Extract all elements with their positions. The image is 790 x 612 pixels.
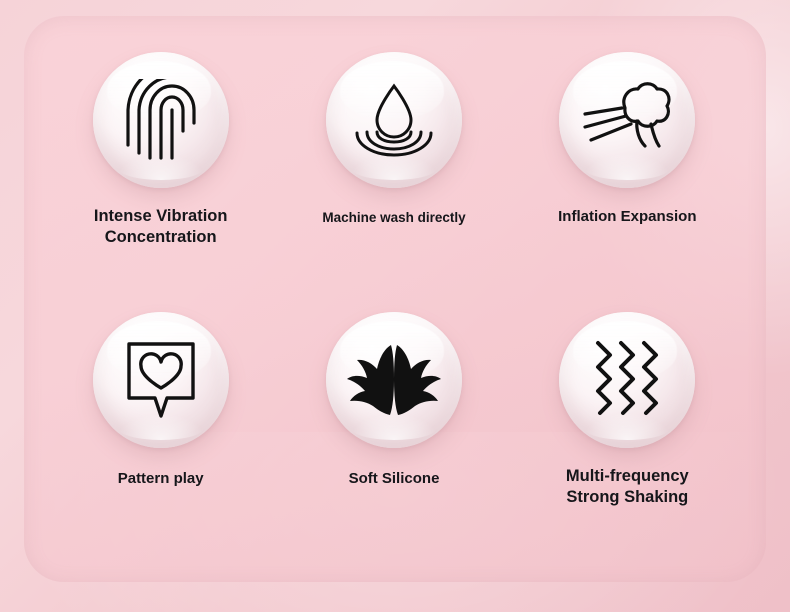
feature-label: Pattern play bbox=[118, 470, 204, 489]
feature-badge bbox=[326, 312, 462, 448]
feature-grid-page: Intense Vibration Concentration Machine … bbox=[0, 0, 790, 612]
heart-speech-bubble-icon bbox=[123, 338, 199, 422]
feature-label: Inflation Expansion bbox=[558, 208, 696, 227]
feature-item-intense-vibration: Intense Vibration Concentration bbox=[44, 52, 277, 312]
feature-item-machine-wash: Machine wash directly bbox=[277, 52, 510, 312]
soft-silicone-hands-icon bbox=[346, 341, 442, 419]
feature-item-multi-frequency: Multi-frequency Strong Shaking bbox=[511, 312, 744, 572]
air-blow-cloud-icon bbox=[581, 80, 673, 160]
feature-grid: Intense Vibration Concentration Machine … bbox=[44, 52, 744, 572]
feature-badge bbox=[93, 312, 229, 448]
wave-lines-icon bbox=[590, 339, 664, 421]
feature-label: Intense Vibration Concentration bbox=[94, 206, 228, 247]
feature-badge bbox=[559, 312, 695, 448]
feature-item-soft-silicone: Soft Silicone bbox=[277, 312, 510, 572]
feature-item-pattern-play: Pattern play bbox=[44, 312, 277, 572]
feature-badge bbox=[326, 52, 462, 188]
feature-label: Soft Silicone bbox=[349, 470, 440, 489]
feature-item-inflation-expansion: Inflation Expansion bbox=[511, 52, 744, 312]
feature-badge bbox=[93, 52, 229, 188]
feature-label: Multi-frequency Strong Shaking bbox=[566, 466, 689, 507]
feature-label: Machine wash directly bbox=[322, 210, 465, 227]
fingerprint-icon bbox=[122, 79, 200, 161]
water-drop-ripple-icon bbox=[351, 80, 437, 160]
feature-badge bbox=[559, 52, 695, 188]
